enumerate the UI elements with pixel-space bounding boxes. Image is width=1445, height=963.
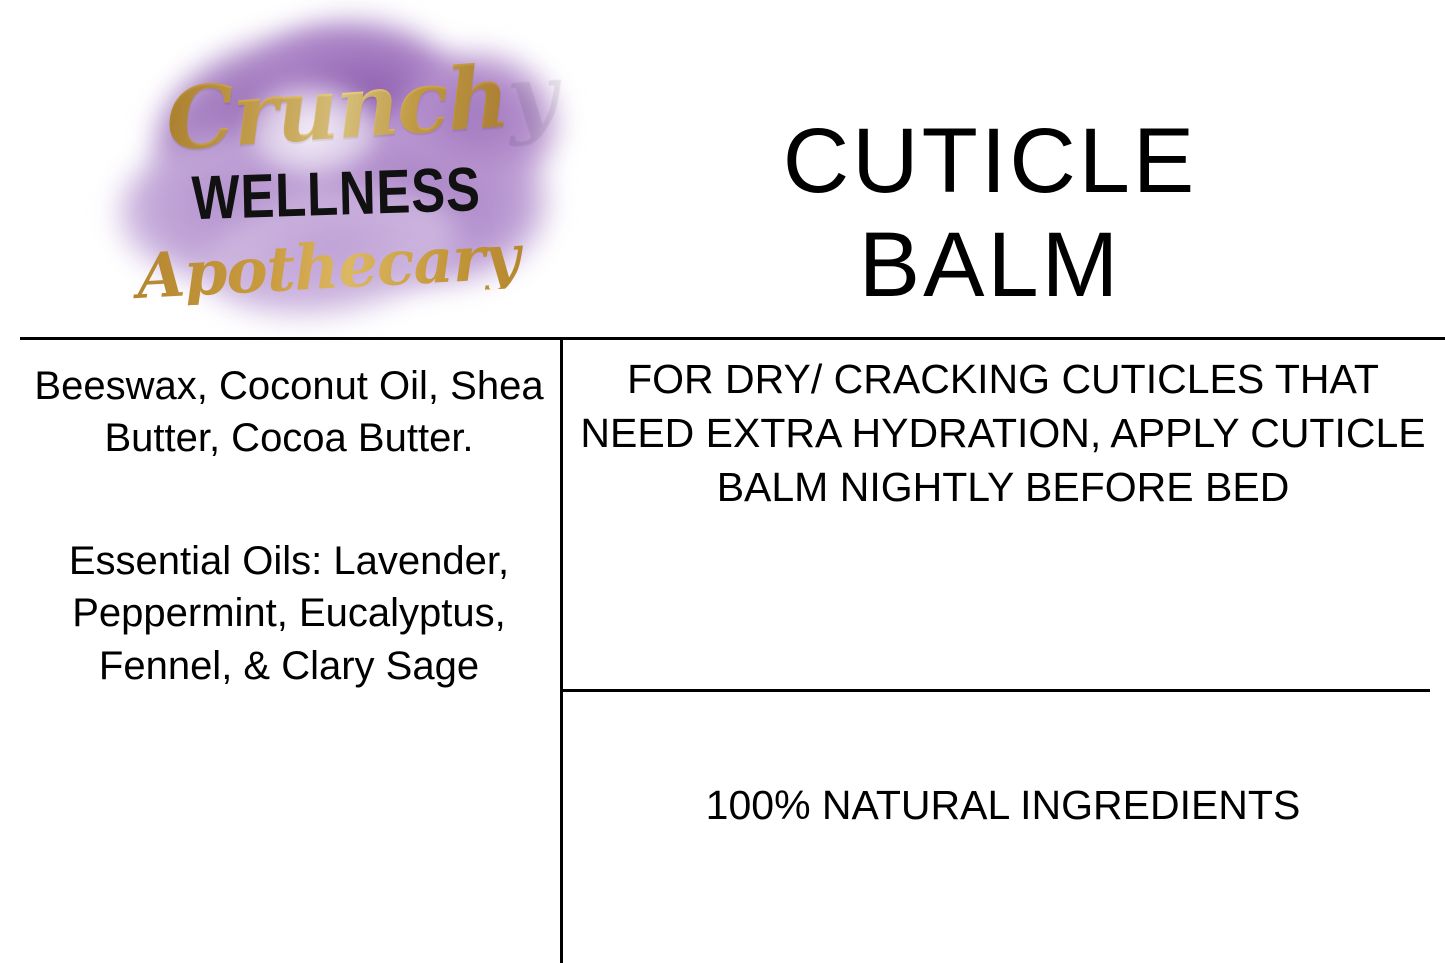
product-title-line-1: CUTICLE [640,110,1340,214]
column-divider [560,338,563,963]
directions-panel: FOR DRY/ CRACKING CUTICLES THAT NEED EXT… [575,352,1431,514]
claim-panel: 100% NATURAL INGREDIENTS [575,692,1431,963]
directions-text: FOR DRY/ CRACKING CUTICLES THAT NEED EXT… [575,352,1431,514]
brand-name-apothecary: Apothecary [127,226,530,309]
brand-logo: Crunchy WELLNESS Apothecary [108,14,528,324]
product-title-line-2: BALM [640,214,1340,318]
brand-name-wellness: WELLNESS [191,160,463,231]
brand-name-crunchy: Crunchy [163,54,508,164]
label-header: Crunchy WELLNESS Apothecary CUTICLE BALM [0,0,1445,338]
paragraph-spacer [22,465,556,535]
essential-oils-list: Essential Oils: Lavender, Peppermint, Eu… [22,535,556,692]
natural-ingredients-claim: 100% NATURAL INGREDIENTS [706,779,1301,832]
header-divider [20,337,1445,340]
product-label: Crunchy WELLNESS Apothecary CUTICLE BALM… [0,0,1445,963]
ingredients-panel: Beeswax, Coconut Oil, Shea Butter, Cocoa… [22,352,556,692]
ingredients-list: Beeswax, Coconut Oil, Shea Butter, Cocoa… [22,352,556,465]
product-title: CUTICLE BALM [640,110,1340,318]
